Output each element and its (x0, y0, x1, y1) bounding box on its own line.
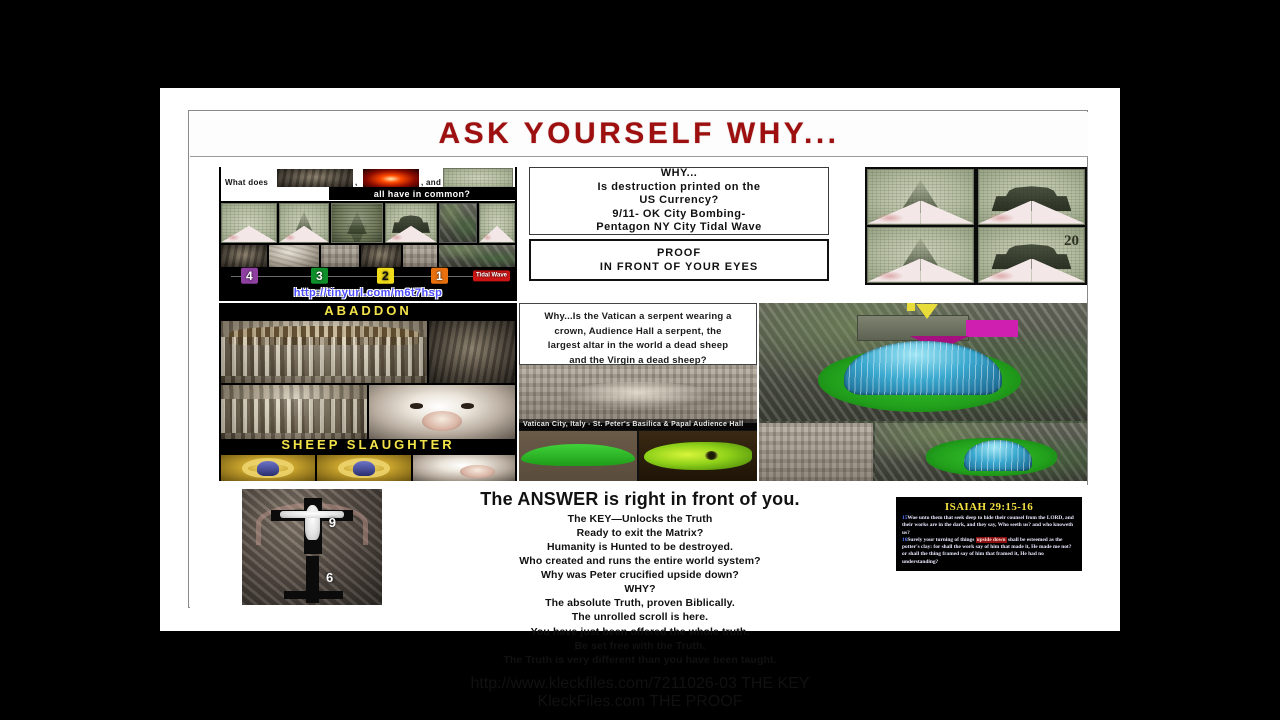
serpent-head-photo (639, 431, 757, 481)
answer-line: The absolute Truth, proven Biblically. (390, 596, 890, 610)
why-line: 9/11- OK City Bombing- (612, 208, 745, 221)
serpent-photo (429, 321, 515, 383)
number-chip-3: 3 (311, 268, 328, 284)
abaddon-collage: ABADDON SHEEP SLAUGHTER (219, 303, 517, 481)
organ-photo (221, 385, 367, 439)
poster-inner-frame: ASK YOURSELF WHY... What does , , and al… (188, 110, 1088, 608)
what-does-label: What does (225, 178, 268, 187)
vatican-column: Why...Is the Vatican a serpent wearing a… (519, 303, 757, 481)
marker-six: 6 (326, 570, 333, 585)
virgin-icon-photo (221, 455, 315, 481)
crucifix-satellite-image: 9 6 (242, 489, 382, 605)
why-text-panel: WHY... Is destruction printed on the US … (529, 167, 829, 235)
dead-sheep-photo (413, 455, 515, 481)
answer-line: Ready to exit the Matrix? (390, 526, 890, 540)
aerial-sub-photo-left (759, 423, 873, 481)
key-url-link[interactable]: http://www.kleckfiles.com/7211026-03 THE… (390, 675, 890, 693)
poster-canvas: ASK YOURSELF WHY... What does , , and al… (0, 0, 1280, 720)
tinyurl-link[interactable]: http://tinyurl.com/m6t7hsp (219, 287, 517, 299)
photo-tile (221, 245, 267, 267)
altar-photo (221, 321, 427, 383)
answer-line: Be set free with the Truth. (390, 639, 890, 653)
answer-lines: The KEY—Unlocks the Truth Ready to exit … (390, 512, 890, 667)
vatican-question-line: Why...Is the Vatican a serpent wearing a (528, 310, 748, 325)
isaiah-verse-16: 16Surely your turning of things upside d… (902, 537, 1076, 566)
folded-bill (867, 227, 974, 283)
aerial-sub-photo-right (875, 423, 1087, 481)
virgin-icon-photo (317, 455, 411, 481)
currency-collage: What does , , and all have in common? (219, 167, 517, 285)
sheep-head-photo (369, 385, 515, 439)
timeline-rule (231, 276, 505, 277)
currency-tile (221, 203, 277, 243)
why-line: Is destruction printed on the (597, 181, 760, 194)
number-chip-4: 4 (241, 268, 258, 284)
comma-1: , (355, 178, 358, 187)
photo-tile (269, 245, 319, 267)
why-line: Pentagon NY City Tidal Wave (596, 221, 762, 234)
answer-line: The unrolled scroll is here. (390, 610, 890, 624)
currency-tile (479, 203, 515, 243)
basilica-dome (844, 341, 1001, 395)
photo-tile (321, 245, 359, 267)
answer-line: Why was Peter crucified upside down? (390, 568, 890, 582)
answer-line: The KEY—Unlocks the Truth (390, 512, 890, 526)
answer-line: You have just been offered the whole tru… (390, 625, 890, 639)
verse-15-text: Woe unto them that seek deep to hide the… (902, 515, 1074, 536)
and-label: , and (421, 178, 441, 187)
folded-bill-twenty: 20 (978, 227, 1085, 283)
numbered-timeline: 4 3 2 1 Tidal Wave (219, 267, 517, 285)
lower-cross-arm (284, 591, 343, 599)
isaiah-verse-15: 15Woe unto them that seek deep to hide t… (902, 515, 1076, 537)
aerial-main-photo (759, 303, 1087, 421)
vatican-question-panel: Why...Is the Vatican a serpent wearing a… (519, 303, 757, 365)
magenta-highlight (966, 320, 1018, 338)
why-line: US Currency? (639, 194, 718, 207)
thumb-nuclear-blast (363, 169, 419, 187)
number-chip-tidal-wave: Tidal Wave (473, 270, 510, 281)
thumb-dollar-bill (443, 168, 513, 188)
photo-tile (361, 245, 401, 267)
abaddon-label: ABADDON (219, 303, 517, 318)
proof-url-link[interactable]: KleckFiles.com THE PROOF (390, 693, 890, 711)
proof-subheading: IN FRONT OF YOUR EYES (600, 260, 758, 274)
folded-bills-grid: 20 (865, 167, 1087, 285)
vatican-question-line: crown, Audience Hall a serpent, the (528, 325, 748, 340)
isaiah-title: ISAIAH 29:15-16 (902, 501, 1076, 513)
aerial-vatican-collage (759, 303, 1087, 481)
answer-line: WHY? (390, 582, 890, 596)
answer-line: The Truth is very different than you hav… (390, 653, 890, 667)
currency-tile (279, 203, 329, 243)
vatican-caption: Vatican City, Italy - St. Peter's Basili… (519, 419, 757, 430)
poster-title-bar: ASK YOURSELF WHY... (190, 112, 1088, 157)
proof-heading: PROOF (657, 246, 701, 260)
currency-tile (331, 203, 383, 243)
vatican-aerial-photo (519, 365, 757, 423)
folded-bill (978, 169, 1085, 225)
currency-tile-aerial (439, 203, 477, 243)
thumb-explosion-bw (277, 169, 353, 187)
isaiah-body: 15Woe unto them that seek deep to hide t… (902, 515, 1076, 566)
answer-line: Who created and runs the entire world sy… (390, 554, 890, 568)
vatican-question-line: largest altar in the world a dead sheep (528, 339, 748, 354)
currency-tile (385, 203, 437, 243)
answer-section: 9 6 The ANSWER is right in front of you.… (190, 485, 1088, 608)
marker-nine: 9 (329, 515, 336, 530)
sheep-slaughter-label: SHEEP SLAUGHTER (219, 437, 517, 452)
photo-tile (403, 245, 437, 267)
collage-header-strip: What does , , and all have in common? (221, 167, 515, 201)
answer-heading: The ANSWER is right in front of you. (390, 489, 890, 510)
number-chip-1: 1 (431, 268, 448, 284)
page-title: ASK YOURSELF WHY... (439, 117, 840, 151)
serpent-green-photo (519, 431, 637, 481)
common-question: all have in common? (329, 187, 515, 200)
isaiah-scripture-box: ISAIAH 29:15-16 15Woe unto them that see… (896, 497, 1082, 571)
tinyurl-strip: http://tinyurl.com/m6t7hsp (219, 285, 517, 301)
why-line: WHY... (661, 167, 698, 180)
verse-16-highlight: upside down (976, 537, 1007, 543)
photo-tile (439, 245, 515, 267)
verse-16-text-a: Surely your turning of things (907, 537, 975, 543)
folded-bill (867, 169, 974, 225)
answer-urls: http://www.kleckfiles.com/7211026-03 THE… (390, 675, 890, 711)
number-chip-2: 2 (377, 268, 394, 284)
answer-line: Humanity is Hunted to be destroyed. (390, 540, 890, 554)
proof-panel: PROOF IN FRONT OF YOUR EYES (529, 239, 829, 281)
poster-page: ASK YOURSELF WHY... What does , , and al… (160, 88, 1120, 631)
yellow-arrow-icon (916, 304, 938, 319)
